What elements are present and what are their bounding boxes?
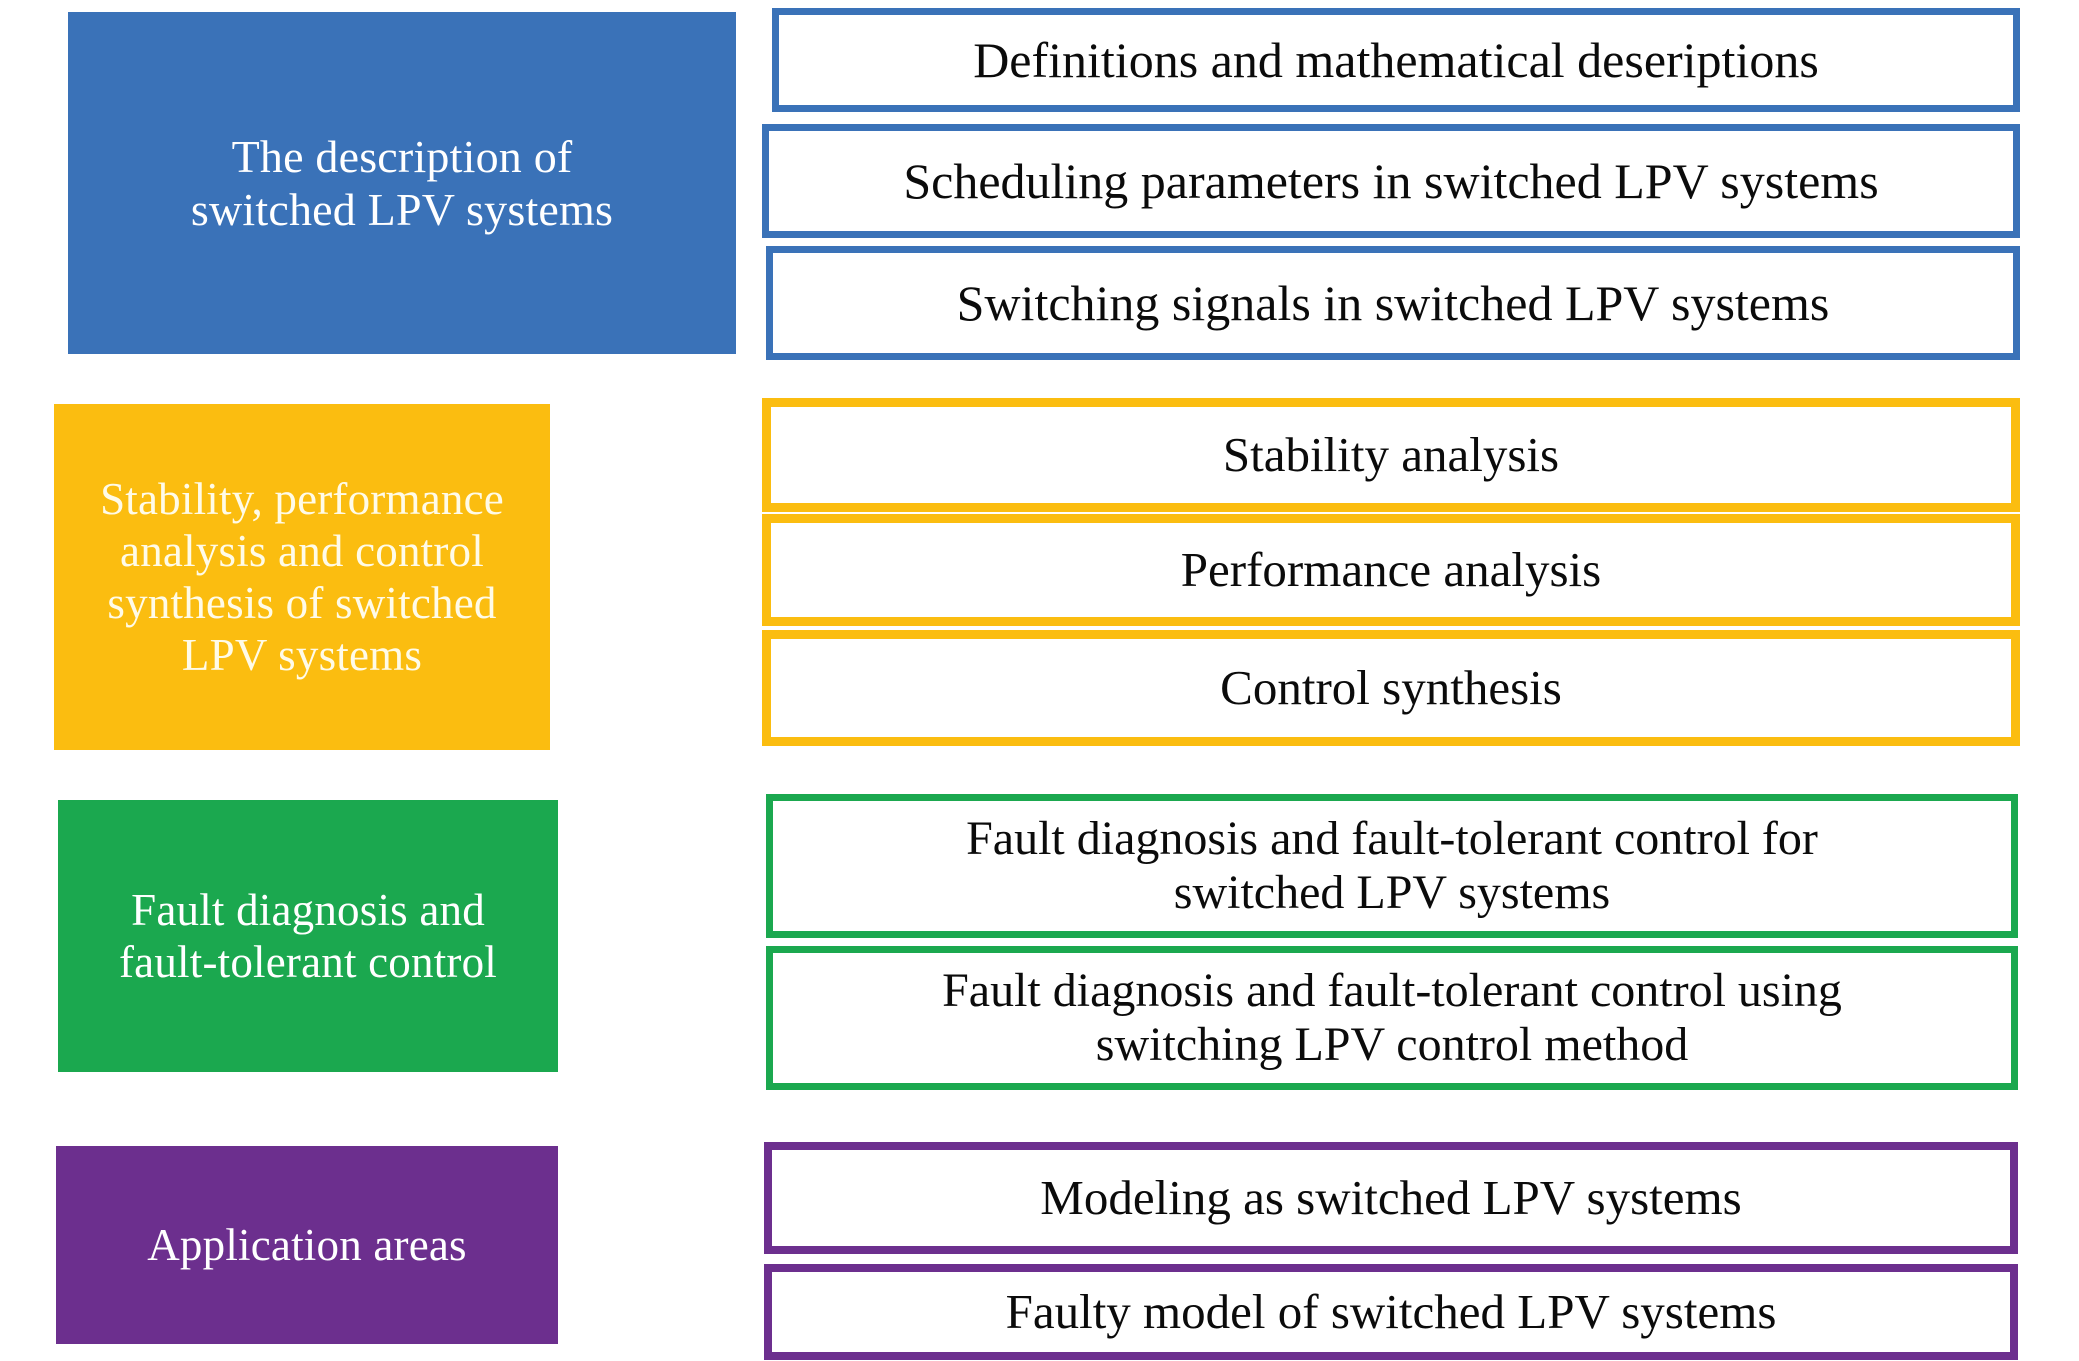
detail-label-performance-analysis: Performance analysis [783,543,1999,598]
detail-box-definitions[interactable]: Definitions and mathematical deseription… [772,8,2020,112]
detail-box-ftc-for-switched-lpv[interactable]: Fault diagnosis and fault-tolerant contr… [766,794,2018,938]
survey-structure-diagram: The description of switched LPV systems … [0,0,2079,1361]
category-label-stability: Stability, performance analysis and cont… [64,473,540,682]
detail-box-stability-analysis[interactable]: Stability analysis [762,398,2020,512]
category-block-application-areas[interactable]: Application areas [56,1146,558,1344]
detail-label-scheduling-parameters: Scheduling parameters in switched LPV sy… [781,153,2001,209]
detail-box-modeling-as-switched-lpv[interactable]: Modeling as switched LPV systems [764,1142,2018,1254]
detail-box-scheduling-parameters[interactable]: Scheduling parameters in switched LPV sy… [762,124,2020,238]
detail-box-control-synthesis[interactable]: Control synthesis [762,630,2020,746]
detail-label-faulty-model: Faulty model of switched LPV systems [784,1285,1998,1340]
detail-label-control-synthesis: Control synthesis [783,661,1999,716]
detail-box-performance-analysis[interactable]: Performance analysis [762,514,2020,626]
detail-label-ftc-for-switched-lpv: Fault diagnosis and fault-tolerant contr… [785,812,1999,920]
detail-box-faulty-model[interactable]: Faulty model of switched LPV systems [764,1264,2018,1360]
detail-box-switching-signals[interactable]: Switching signals in switched LPV system… [766,246,2020,360]
category-block-description[interactable]: The description of switched LPV systems [68,12,736,354]
detail-box-ftc-using-switching-lpv[interactable]: Fault diagnosis and fault-tolerant contr… [766,946,2018,1090]
detail-label-ftc-using-switching-lpv: Fault diagnosis and fault-tolerant contr… [785,964,1999,1072]
category-block-stability[interactable]: Stability, performance analysis and cont… [54,404,550,750]
detail-label-definitions: Definitions and mathematical deseription… [791,32,2001,88]
detail-label-modeling-as-switched-lpv: Modeling as switched LPV systems [784,1171,1998,1226]
category-label-fault-diagnosis: Fault diagnosis and fault-tolerant contr… [68,884,548,988]
detail-label-switching-signals: Switching signals in switched LPV system… [785,275,2001,331]
category-label-application-areas: Application areas [66,1219,548,1271]
category-label-description: The description of switched LPV systems [78,130,726,237]
category-block-fault-diagnosis[interactable]: Fault diagnosis and fault-tolerant contr… [58,800,558,1072]
detail-label-stability-analysis: Stability analysis [783,428,1999,483]
